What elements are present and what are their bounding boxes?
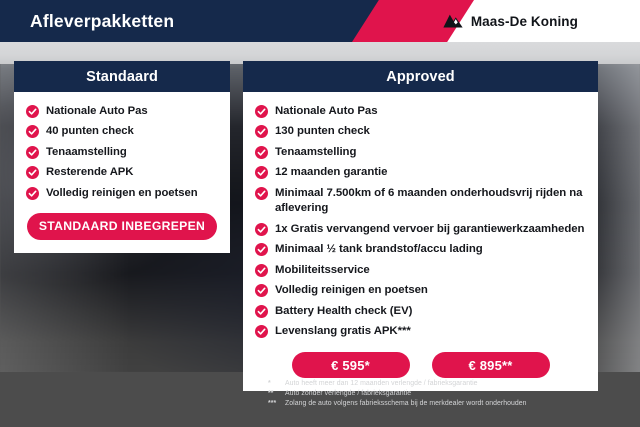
check-circle-icon <box>255 223 268 236</box>
check-circle-icon <box>255 243 268 256</box>
standard-cta-wrap: STANDAARD INBEGREPEN <box>14 204 230 253</box>
page-title: Afleverpakketten <box>30 0 174 42</box>
check-circle-icon <box>255 264 268 277</box>
feature-item: Minimaal ½ tank brandstof/accu lading <box>243 240 598 261</box>
check-circle-icon <box>26 187 39 200</box>
feature-label: Nationale Auto Pas <box>46 104 148 120</box>
feature-item: Nationale Auto Pas <box>14 101 230 122</box>
feature-label: Levenslang gratis APK*** <box>275 324 411 340</box>
package-card-approved-header: Approved <box>243 61 598 92</box>
package-card-approved-body: Nationale Auto Pas130 punten checkTenaam… <box>243 92 598 391</box>
check-circle-icon <box>255 187 268 200</box>
check-circle-icon <box>26 146 39 159</box>
check-circle-icon <box>255 305 268 318</box>
footnotes: *Auto heeft meer dan 12 maanden verlengd… <box>268 379 628 409</box>
delivery-packages-screen: Afleverpakketten Maas-De Koning Standaar… <box>0 0 640 427</box>
check-circle-icon <box>255 325 268 338</box>
brand-logo: Maas-De Koning <box>442 0 578 42</box>
feature-label: Battery Health check (EV) <box>275 304 412 320</box>
feature-item: Resterende APK <box>14 163 230 184</box>
feature-item: Volledig reinigen en poetsen <box>243 281 598 302</box>
feature-item: Minimaal 7.500km of 6 maanden onderhouds… <box>243 183 598 219</box>
check-circle-icon <box>26 125 39 138</box>
feature-item: Battery Health check (EV) <box>243 301 598 322</box>
footnote-marker: * <box>268 379 285 389</box>
feature-item: 1x Gratis vervangend vervoer bij garanti… <box>243 219 598 240</box>
feature-item: Tenaamstelling <box>243 142 598 163</box>
check-circle-icon <box>255 105 268 118</box>
footnote-text: Auto zonder verlengde / fabrieksgarantie <box>285 389 628 399</box>
footnote-text: Auto heeft meer dan 12 maanden verlengde… <box>285 379 628 389</box>
package-title-standard: Standaard <box>86 69 158 85</box>
feature-label: 130 punten check <box>275 124 370 140</box>
feature-item: Tenaamstelling <box>14 142 230 163</box>
footnote-row: *Auto heeft meer dan 12 maanden verlengd… <box>268 379 628 389</box>
check-circle-icon <box>255 146 268 159</box>
footnote-text: Zolang de auto volgens fabrieksschema bi… <box>285 399 628 409</box>
feature-label: Volledig reinigen en poetsen <box>46 186 198 202</box>
feature-label: Tenaamstelling <box>46 145 127 161</box>
feature-label: Minimaal 7.500km of 6 maanden onderhouds… <box>275 186 588 217</box>
brand-name: Maas-De Koning <box>471 14 578 29</box>
feature-label: Nationale Auto Pas <box>275 104 377 120</box>
feature-list-standard: Nationale Auto Pas40 punten checkTenaams… <box>14 101 230 204</box>
check-circle-icon <box>255 284 268 297</box>
feature-item: Levenslang gratis APK*** <box>243 322 598 343</box>
footnote-row: **Auto zonder verlengde / fabrieksgarant… <box>268 389 628 399</box>
feature-item: 12 maanden garantie <box>243 163 598 184</box>
price-button-1[interactable]: € 595* <box>292 352 410 378</box>
footnote-row: ***Zolang de auto volgens fabrieksschema… <box>268 399 628 409</box>
package-card-approved: Approved Nationale Auto Pas130 punten ch… <box>243 61 598 391</box>
feature-item: 40 punten check <box>14 122 230 143</box>
feature-item: 130 punten check <box>243 122 598 143</box>
package-card-standard-body: Nationale Auto Pas40 punten checkTenaams… <box>14 92 230 253</box>
feature-item: Volledig reinigen en poetsen <box>14 183 230 204</box>
footnote-marker: ** <box>268 389 285 399</box>
maas-de-koning-mountain-logo-icon <box>442 13 464 30</box>
feature-item: Nationale Auto Pas <box>243 101 598 122</box>
package-title-approved: Approved <box>386 69 454 85</box>
feature-label: 1x Gratis vervangend vervoer bij garanti… <box>275 222 584 238</box>
feature-label: 40 punten check <box>46 124 134 140</box>
feature-label: 12 maanden garantie <box>275 165 387 181</box>
feature-label: Volledig reinigen en poetsen <box>275 283 428 299</box>
package-card-standard: Standaard Nationale Auto Pas40 punten ch… <box>14 61 230 253</box>
feature-label: Tenaamstelling <box>275 145 356 161</box>
price-button-2[interactable]: € 895** <box>432 352 550 378</box>
footnote-marker: *** <box>268 399 285 409</box>
standard-included-button[interactable]: STANDAARD INBEGREPEN <box>27 213 217 240</box>
page-header: Afleverpakketten Maas-De Koning <box>0 0 640 42</box>
feature-list-approved: Nationale Auto Pas130 punten checkTenaam… <box>243 101 598 342</box>
check-circle-icon <box>26 105 39 118</box>
package-card-standard-header: Standaard <box>14 61 230 92</box>
feature-label: Minimaal ½ tank brandstof/accu lading <box>275 242 483 258</box>
feature-item: Mobiliteitsservice <box>243 260 598 281</box>
check-circle-icon <box>26 166 39 179</box>
check-circle-icon <box>255 166 268 179</box>
feature-label: Resterende APK <box>46 165 133 181</box>
check-circle-icon <box>255 125 268 138</box>
feature-label: Mobiliteitsservice <box>275 263 370 279</box>
